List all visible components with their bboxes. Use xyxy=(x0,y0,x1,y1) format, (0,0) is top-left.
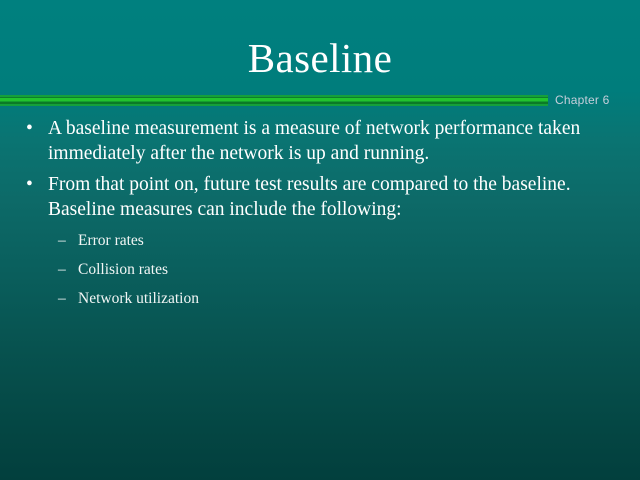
dash-marker-icon: – xyxy=(58,228,66,253)
list-item-text: From that point on, future test results … xyxy=(48,174,571,220)
chapter-label: Chapter 6 xyxy=(555,93,610,107)
divider-stripe xyxy=(0,104,548,106)
bullet-marker-icon: • xyxy=(26,172,33,197)
presentation-slide: Baseline Chapter 6 • A baseline measurem… xyxy=(0,0,640,480)
list-item: • From that point on, future test result… xyxy=(0,172,640,222)
slide-title-area: Baseline xyxy=(0,28,640,88)
list-item: • A baseline measurement is a measure of… xyxy=(0,116,640,166)
bullet-marker-icon: • xyxy=(26,116,33,141)
list-item-text: Error rates xyxy=(78,232,144,249)
list-item: – Error rates xyxy=(0,228,640,253)
list-item-text: Collision rates xyxy=(78,261,168,278)
list-item: – Collision rates xyxy=(0,257,640,282)
list-item-text: Network utilization xyxy=(78,290,199,307)
sub-list: – Error rates – Collision rates – Networ… xyxy=(0,228,640,311)
list-item-text: A baseline measurement is a measure of n… xyxy=(48,118,580,164)
dash-marker-icon: – xyxy=(58,257,66,282)
page-title: Baseline xyxy=(248,38,392,79)
slide-body: • A baseline measurement is a measure of… xyxy=(0,116,640,315)
list-item: – Network utilization xyxy=(0,286,640,311)
title-divider-bar xyxy=(0,95,548,106)
dash-marker-icon: – xyxy=(58,286,66,311)
